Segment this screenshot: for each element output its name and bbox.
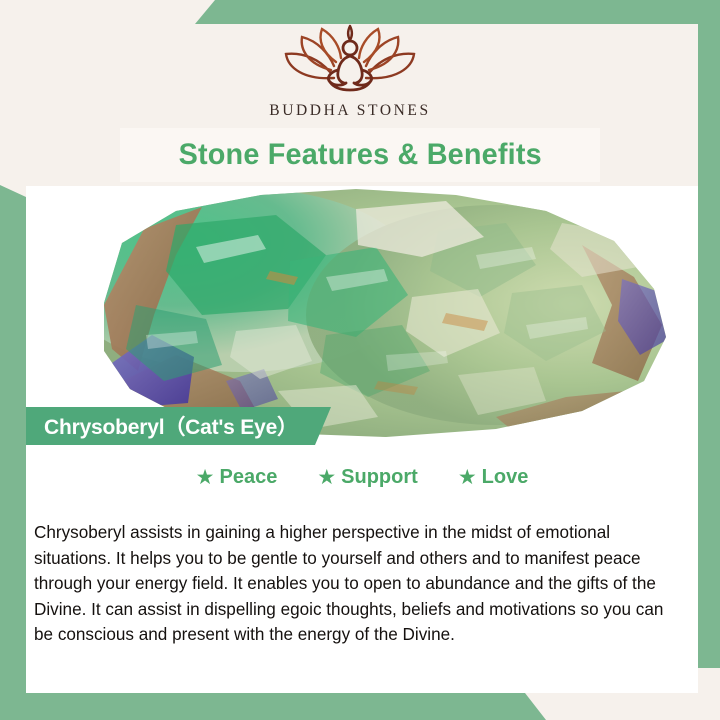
page-title-band: Stone Features & Benefits [120,128,600,182]
infographic-page: Chrysoberyl（Cat's Eye） ★ Peace ★ Support… [0,0,720,720]
benefit-label: Support [341,466,418,489]
page-title: Stone Features & Benefits [178,138,541,172]
benefit-item-support: ★ Support [317,466,417,489]
benefit-item-love: ★ Love [458,466,529,489]
stone-photo-illustration [26,185,698,443]
star-icon: ★ [317,467,336,488]
brand-logo: BUDDHA STONES [0,24,700,120]
brand-name: BUDDHA STONES [269,102,430,120]
stone-name-banner: Chrysoberyl（Cat's Eye） [26,407,331,445]
benefit-item-peace: ★ Peace [196,466,278,489]
benefit-label: Love [482,466,529,489]
benefit-list: ★ Peace ★ Support ★ Love [26,457,698,497]
frame-right-bar [698,0,720,668]
frame-bottom-bar [0,693,546,720]
frame-left-bar [0,185,26,693]
stone-description: Chrysoberyl assists in gaining a higher … [34,520,680,648]
star-icon: ★ [458,467,477,488]
content-card: Chrysoberyl（Cat's Eye） ★ Peace ★ Support… [26,185,698,693]
frame-top-bar [195,0,720,24]
star-icon: ★ [196,467,215,488]
stone-name-label: Chrysoberyl（Cat's Eye） [26,411,298,441]
benefit-label: Peace [219,466,277,489]
stone-photo [26,185,698,443]
lotus-meditation-icon [274,24,426,96]
